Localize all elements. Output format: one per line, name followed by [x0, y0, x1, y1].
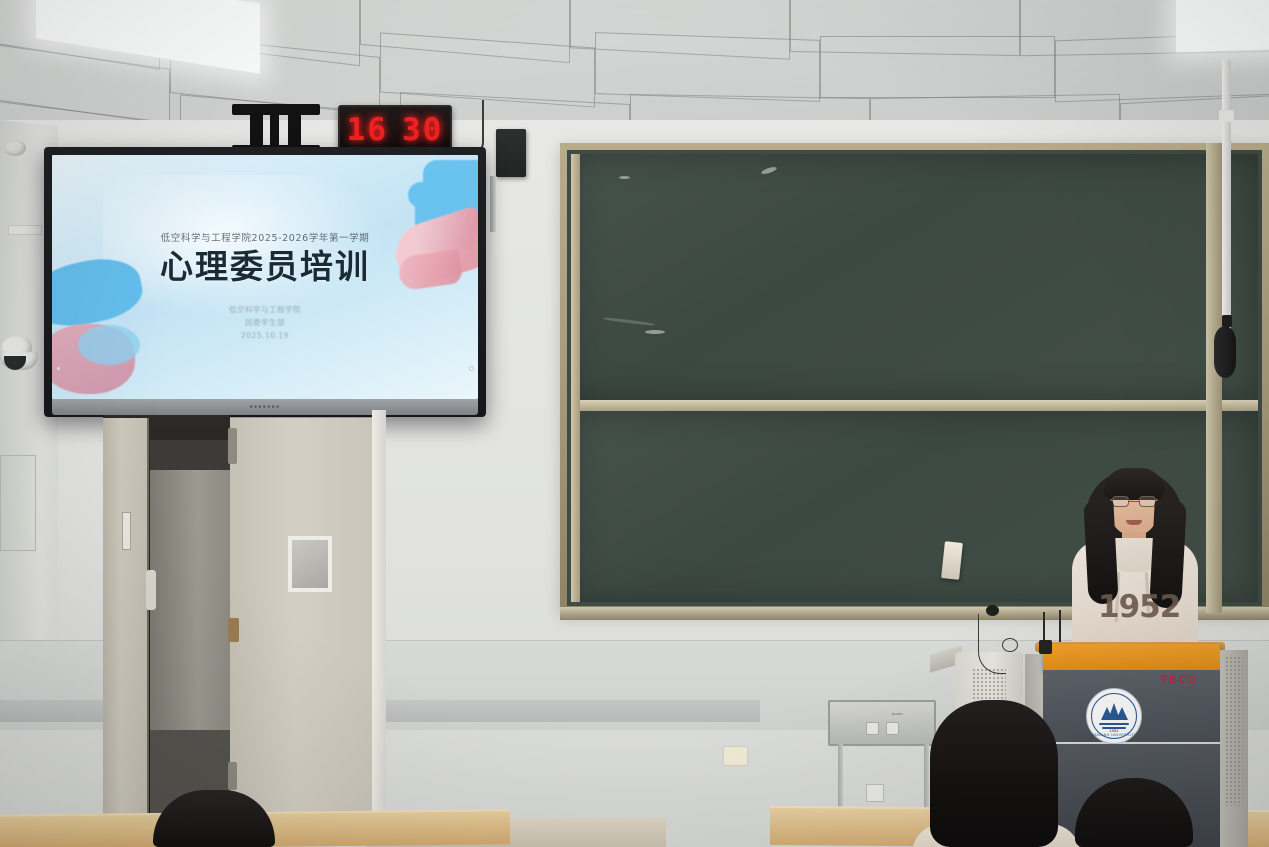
chalkboard-panel-top	[571, 154, 1258, 400]
door-hinge	[228, 762, 237, 790]
door-vent-slot	[122, 512, 131, 550]
power-socket[interactable]	[866, 722, 879, 735]
camera-mount	[4, 140, 26, 156]
pole-joint	[1219, 110, 1234, 122]
lectern-vent-grille	[1225, 656, 1243, 806]
corridor-shadow	[150, 440, 230, 474]
hoodie-print-text: 1952	[1098, 590, 1172, 624]
lectern-brand-label: FBCD	[1161, 674, 1198, 686]
glasses-icon	[1112, 496, 1156, 507]
rack-base-plate	[866, 784, 884, 802]
ceiling-hanging-microphone	[1214, 326, 1236, 378]
presenter-mouth	[1126, 520, 1142, 525]
rack-leg	[838, 744, 843, 812]
door-leaf[interactable]	[103, 418, 149, 814]
gooseneck-microphone	[1039, 640, 1052, 654]
slide-subtitle-block: 低空科学与工程学院 团委学生部 2025.10.19	[229, 303, 301, 342]
chalkboard-divider	[571, 400, 1258, 411]
ceiling-light-panel	[1176, 0, 1269, 52]
wall-outlet[interactable]	[723, 746, 748, 766]
university-emblem: 1952 NANJING UNIVERSITY	[1086, 688, 1142, 744]
gooseneck-microphone-stem	[1043, 612, 1045, 642]
door-window	[288, 536, 332, 592]
mountain-wave-icon	[1097, 703, 1131, 729]
audience-member	[153, 790, 275, 847]
gooseneck-microphone-stem	[1059, 610, 1061, 642]
audience-hair	[1075, 778, 1193, 847]
power-socket[interactable]	[886, 722, 899, 735]
slide-title: 心理委员培训	[160, 250, 370, 285]
equipment-rack: power	[828, 700, 936, 812]
clock-minutes: 30	[402, 112, 443, 148]
door-frame	[372, 410, 386, 818]
lectern-top-surface	[1043, 644, 1220, 672]
display-sensor-left-icon	[56, 366, 61, 371]
slide-subtitle-line: 团委学生部	[229, 316, 301, 329]
smart-board[interactable]: 低空科学与工程学院2025-2026学年第一学期 心理委员培训 低空科学与工程学…	[44, 147, 486, 417]
door-handle[interactable]	[146, 570, 156, 610]
display-bezel[interactable]: ▪▪▪▪▪▪▪	[52, 399, 478, 415]
chalkboard-mullion	[571, 154, 580, 602]
rack-label: power	[892, 711, 903, 716]
audience-hair	[153, 790, 275, 847]
wall-speaker	[496, 129, 526, 177]
door-side-panel	[230, 418, 372, 816]
audience-member	[930, 700, 1058, 847]
wall-utility-box	[0, 455, 36, 551]
ceiling-tile	[820, 36, 1055, 98]
audience-member	[1075, 778, 1193, 847]
slide-subtitle-line: 2025.10.19	[229, 329, 301, 342]
slide-subtitle-line: 低空科学与工程学院	[229, 303, 301, 316]
door-hinge	[228, 428, 237, 464]
chalkboard-eraser[interactable]	[941, 541, 963, 580]
door-hinge	[228, 618, 239, 642]
slide-kicker-text: 低空科学与工程学院2025-2026学年第一学期	[161, 230, 370, 244]
display-screen[interactable]: 低空科学与工程学院2025-2026学年第一学期 心理委员培训 低空科学与工程学…	[52, 155, 478, 399]
rack-panel: power	[828, 700, 936, 746]
wall-plate	[8, 225, 42, 235]
emblem-institution-label: NANJING UNIVERSITY	[1087, 733, 1141, 737]
clock-hours: 16	[347, 112, 388, 148]
classroom-scene: 16 30 低空科学与工程学院2025-2026学年第一学期 心理委员培训 低空…	[0, 0, 1269, 847]
ceiling-tile	[595, 32, 820, 102]
slide-content: 低空科学与工程学院2025-2026学年第一学期 心理委员培训 低空科学与工程学…	[52, 155, 478, 399]
audience-hair	[930, 700, 1058, 847]
bezel-indicator-label: ▪▪▪▪▪▪▪	[250, 404, 281, 410]
speaker-mount-rod	[490, 176, 496, 232]
display-sensor-right-icon	[469, 366, 474, 371]
